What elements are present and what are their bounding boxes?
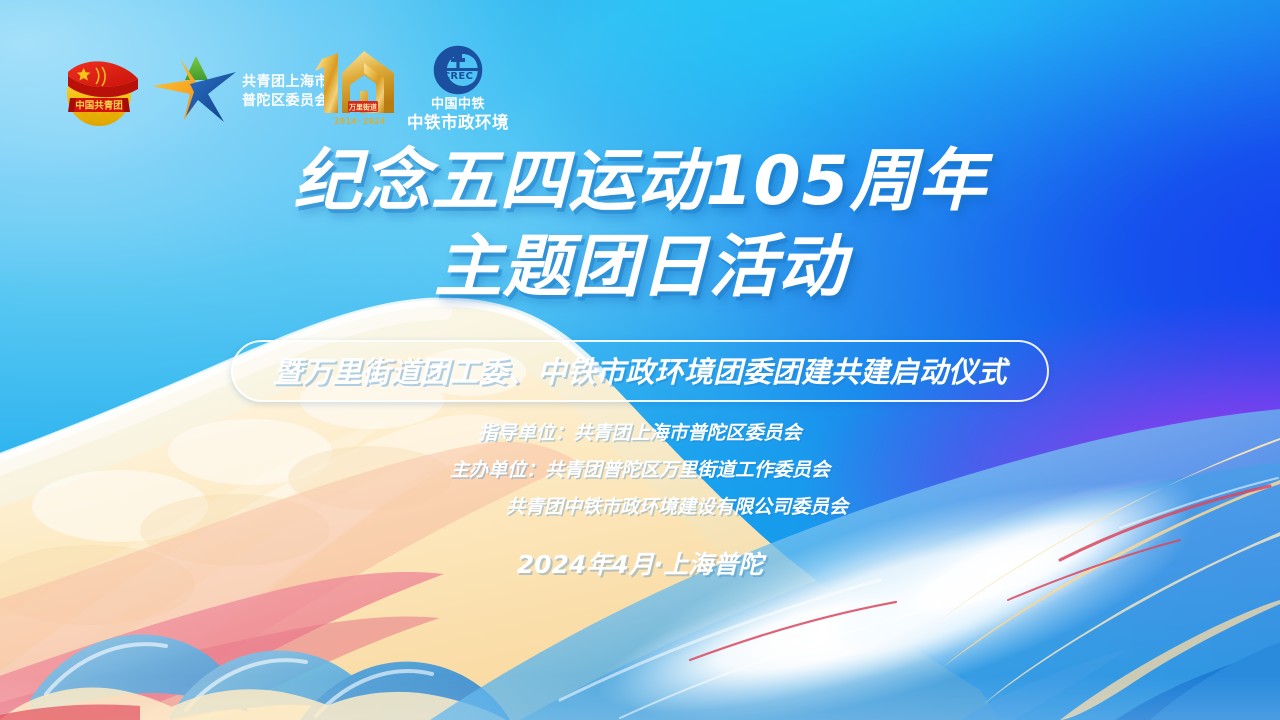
- svg-text:2014·2024: 2014·2024: [334, 117, 385, 127]
- subtitle-pill-text: 暨万里街道团工委、中铁市政环境团委团建共建启动仪式: [273, 349, 1007, 391]
- svg-text:中国中铁: 中国中铁: [431, 96, 485, 112]
- svg-text:CREC: CREC: [443, 71, 473, 82]
- svg-text:中国共青团: 中国共青团: [75, 100, 123, 112]
- logo-communist-youth-league: 中国共青团: [54, 45, 148, 135]
- credit-line-organizer-1: 主办单位：共青团普陀区万里街道工作委员会: [0, 461, 1280, 480]
- poster-canvas: 中国共青团: [0, 0, 1280, 720]
- putuo-youth-league-star-icon: 共青团上海市 普陀区委员会: [150, 50, 300, 130]
- logo-china-railway: CREC 中国中铁 中铁市政环境: [406, 45, 510, 135]
- logo-tenth-anniversary: 万里街道 2014·2024: [308, 45, 400, 135]
- credit-line-guidance: 指导单位：共青团上海市普陀区委员会: [0, 424, 1280, 443]
- credits-block: 指导单位：共青团上海市普陀区委员会 主办单位：共青团普陀区万里街道工作委员会 共…: [0, 424, 1280, 517]
- subtitle-pill: 暨万里街道团工委、中铁市政环境团委团建共建启动仪式: [231, 340, 1049, 402]
- svg-text:中铁市政环境: 中铁市政环境: [407, 112, 509, 132]
- logo-putuo-youth-league: 共青团上海市 普陀区委员会: [150, 45, 302, 135]
- date-and-city: 2024年4月·上海普陀: [0, 545, 1280, 581]
- credit-line-organizer-2: 共青团中铁市政环境建设有限公司委员会: [0, 498, 1280, 517]
- svg-text:万里街道: 万里街道: [348, 103, 377, 112]
- tenth-anniversary-gold-icon: 万里街道 2014·2024: [308, 47, 400, 133]
- subtitle-pill-container: 暨万里街道团工委、中铁市政环境团委团建共建启动仪式: [0, 340, 1280, 402]
- sponsor-logo-row: 中国共青团: [54, 42, 510, 138]
- main-title-line-2: 主题团日活动: [0, 234, 1280, 302]
- main-title-line-1: 纪念五四运动105周年: [0, 148, 1280, 216]
- china-railway-crec-icon: CREC 中国中铁 中铁市政环境: [406, 46, 510, 134]
- main-title: 纪念五四运动105周年 主题团日活动: [0, 148, 1280, 302]
- communist-youth-league-emblem-icon: 中国共青团: [54, 46, 144, 134]
